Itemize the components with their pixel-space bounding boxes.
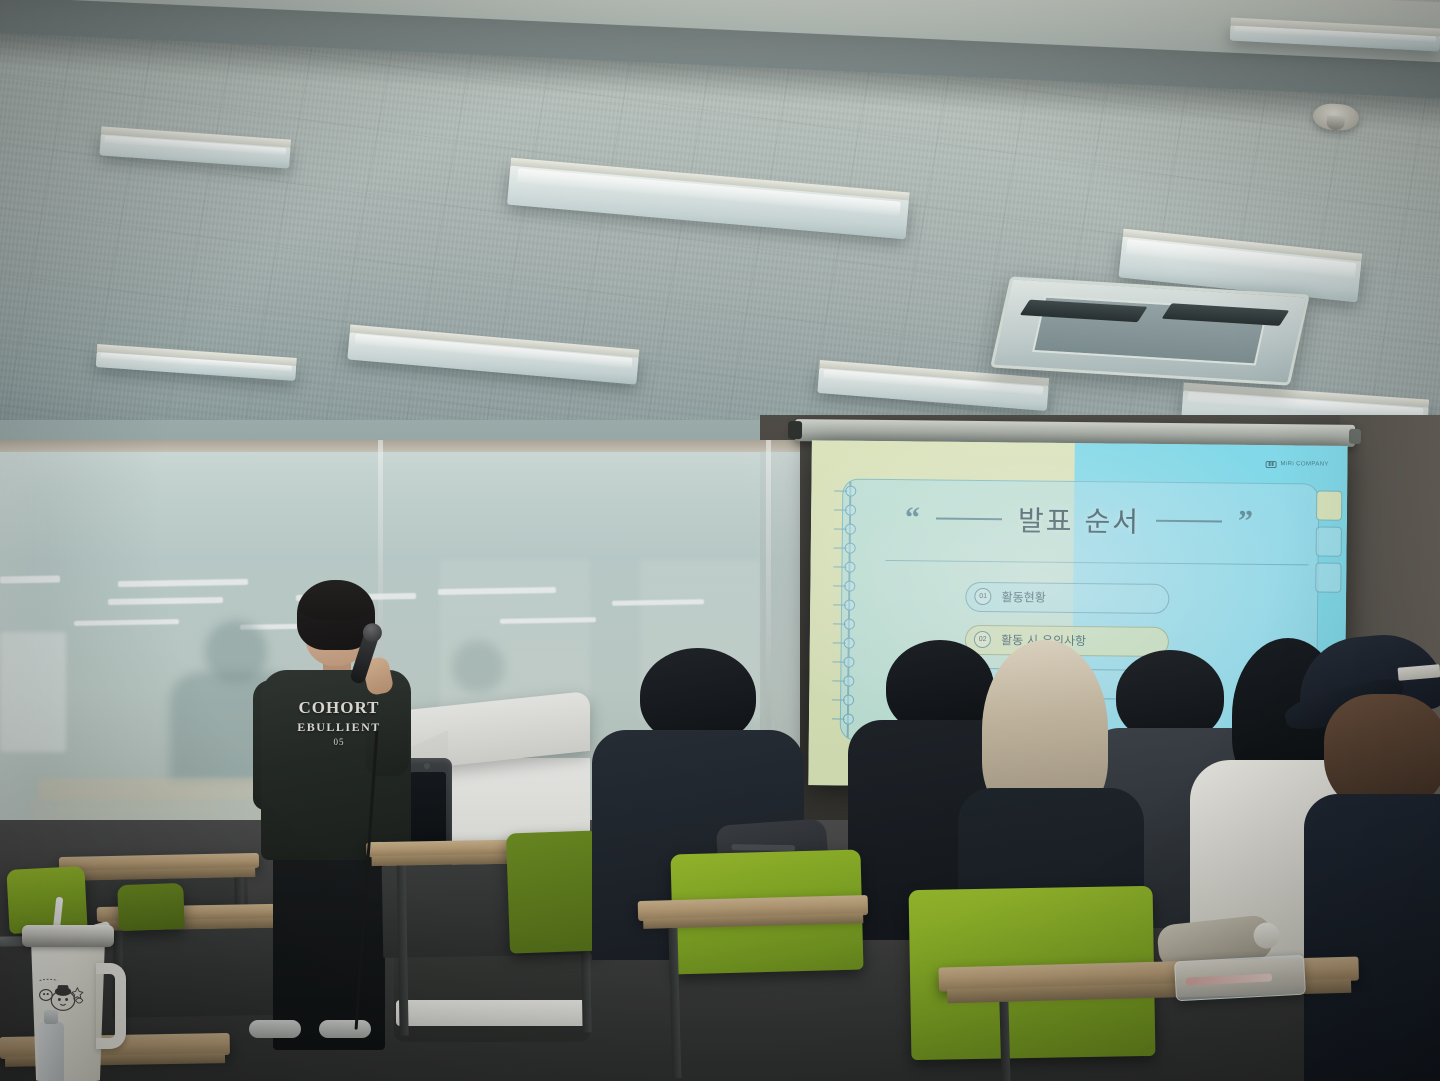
shirt-text-line-1: COHORT [289,698,389,718]
desk-leg [999,1002,1010,1081]
spiral-ring [844,599,855,610]
ceiling [0,0,1440,470]
spiral-ring [844,675,855,686]
glass-inner-shelf [58,788,218,814]
spray-bottle-cap [44,1010,58,1024]
slide-item-1-label: 활동현황 [1002,588,1046,605]
title-rule-left [936,517,1002,520]
close-quote-icon: ” [1238,514,1253,529]
slide-item-1-number: 01 [975,588,992,605]
spiral-ring [843,694,854,705]
glass-reflection-window-left [0,632,66,752]
pencil-case [1174,955,1306,1002]
presenter-shoe-right [319,1020,371,1038]
slide-item-2-number: 02 [974,631,991,648]
chair-center [506,830,602,953]
spiral-ring [843,713,854,724]
slide-item-1: 01 활동현황 [965,582,1169,614]
watermark-text: MiRi COMPANY [1280,461,1328,468]
presenter-fringe [299,590,373,620]
desk-front-center [638,895,873,1081]
slide-title-row: “ 발표 순서 ” [811,497,1347,543]
watermark-logo-icon [1265,460,1276,467]
shirt-text-line-2: EBULLIENT [289,720,389,735]
tumbler [18,905,130,1081]
slide-watermark: MiRi COMPANY [1265,460,1328,468]
title-rule-right [1156,520,1222,523]
notebook-tab-3 [1315,562,1341,592]
spiral-ring [844,656,855,667]
open-quote-icon: “ [905,511,920,526]
glass-ghost-head-2 [452,640,504,692]
presenter-shoe-left [249,1020,301,1038]
slide-title: 발표 순서 [1018,499,1140,540]
spiral-ring [844,618,855,629]
glass-partition-header [0,440,800,452]
spray-bottle [38,1022,64,1081]
ceiling-ac-vent [990,276,1310,385]
tumbler-lid[interactable] [22,925,114,947]
spiral-ring [844,637,855,648]
tumbler-handle[interactable] [96,963,126,1049]
chair-backrest [506,830,602,953]
classroom-photo: MiRi COMPANY “ [0,0,1440,1081]
desk-leg [668,928,681,1078]
glass-reflection-1 [0,575,60,583]
